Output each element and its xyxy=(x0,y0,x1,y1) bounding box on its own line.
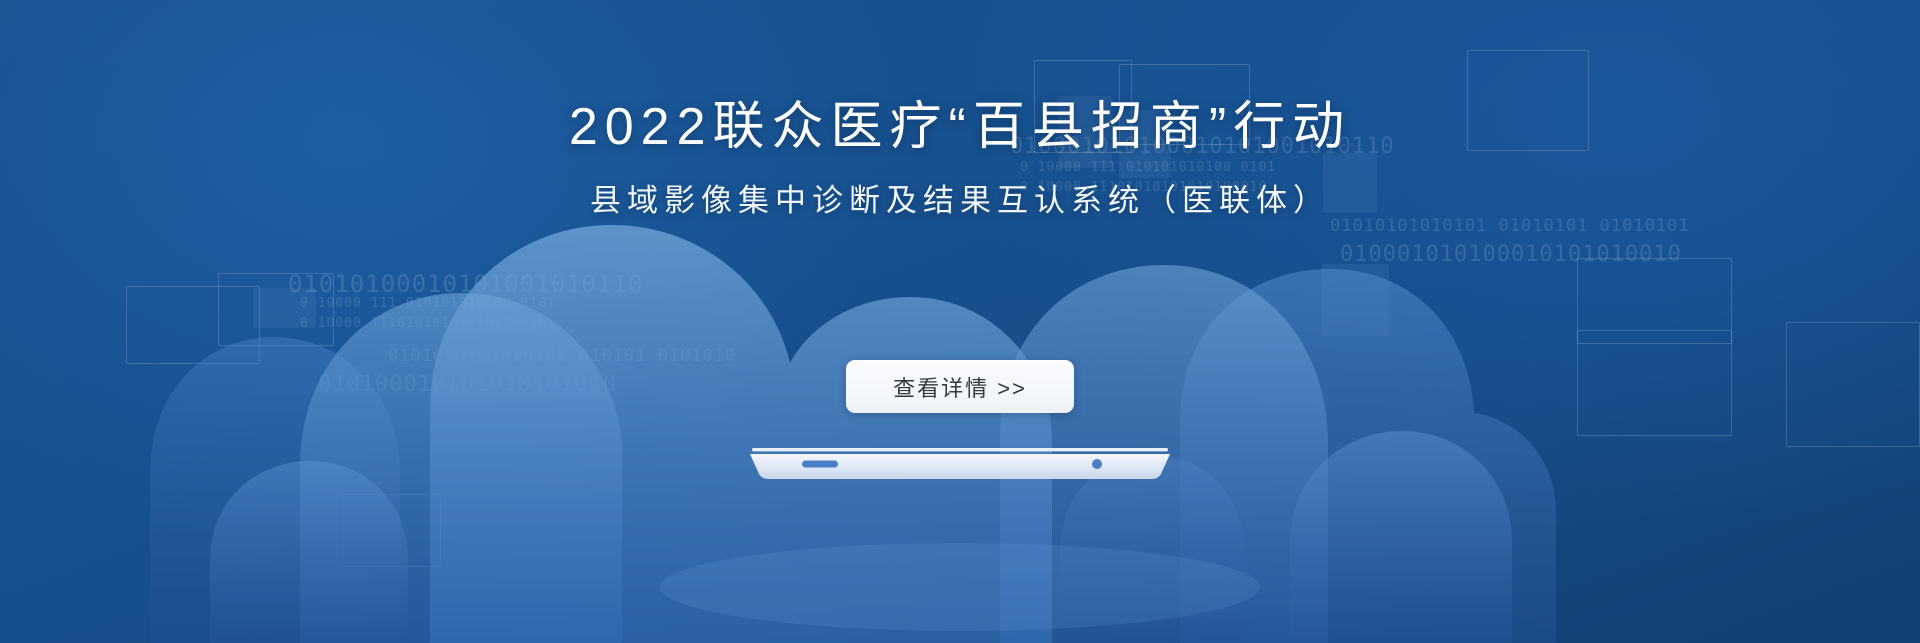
device-ground-glow xyxy=(660,543,1260,631)
cloud-front-left-lobe xyxy=(210,461,408,643)
decor-rect-outline xyxy=(218,273,334,346)
device-camera-icon xyxy=(1092,459,1102,469)
cloud-mid-left xyxy=(300,293,622,643)
binary-text: 01010100010101001010110 xyxy=(288,270,643,298)
cloud-front-right-lobe xyxy=(1290,431,1512,643)
cta-container: 查看详情 >> xyxy=(0,360,1920,413)
binary-text: 010001010100010101010010 xyxy=(1340,242,1682,267)
decor-rect-fill xyxy=(1322,264,1389,336)
decor-rect-fill xyxy=(253,288,316,328)
cloud-front-center xyxy=(430,225,1052,643)
cloud-back-right xyxy=(1180,269,1556,643)
promo-banner: 01010100010101001010110 0 10000 111 0101… xyxy=(0,0,1920,643)
decor-rect-outline xyxy=(1577,258,1732,344)
decor-rect-outline xyxy=(126,286,260,364)
device-screen-rim xyxy=(752,448,1168,451)
device-illustration xyxy=(750,448,1170,484)
device-speaker-icon xyxy=(802,461,838,468)
view-details-button[interactable]: 查看详情 >> xyxy=(846,360,1074,413)
device-svg xyxy=(750,448,1170,484)
decor-rect-outline xyxy=(337,494,441,567)
binary-text: 0 10000 111 010101010100 0101 xyxy=(300,296,556,311)
banner-subtitle: 县域影像集中诊断及结果互认系统（医联体） xyxy=(0,156,1920,219)
banner-title: 2022联众医疗“百县招商”行动 xyxy=(0,0,1920,156)
binary-text: 0 10000 11101010101010100010 xyxy=(300,316,547,331)
banner-content: 2022联众医疗“百县招商”行动 县域影像集中诊断及结果互认系统（医联体） xyxy=(0,0,1920,219)
